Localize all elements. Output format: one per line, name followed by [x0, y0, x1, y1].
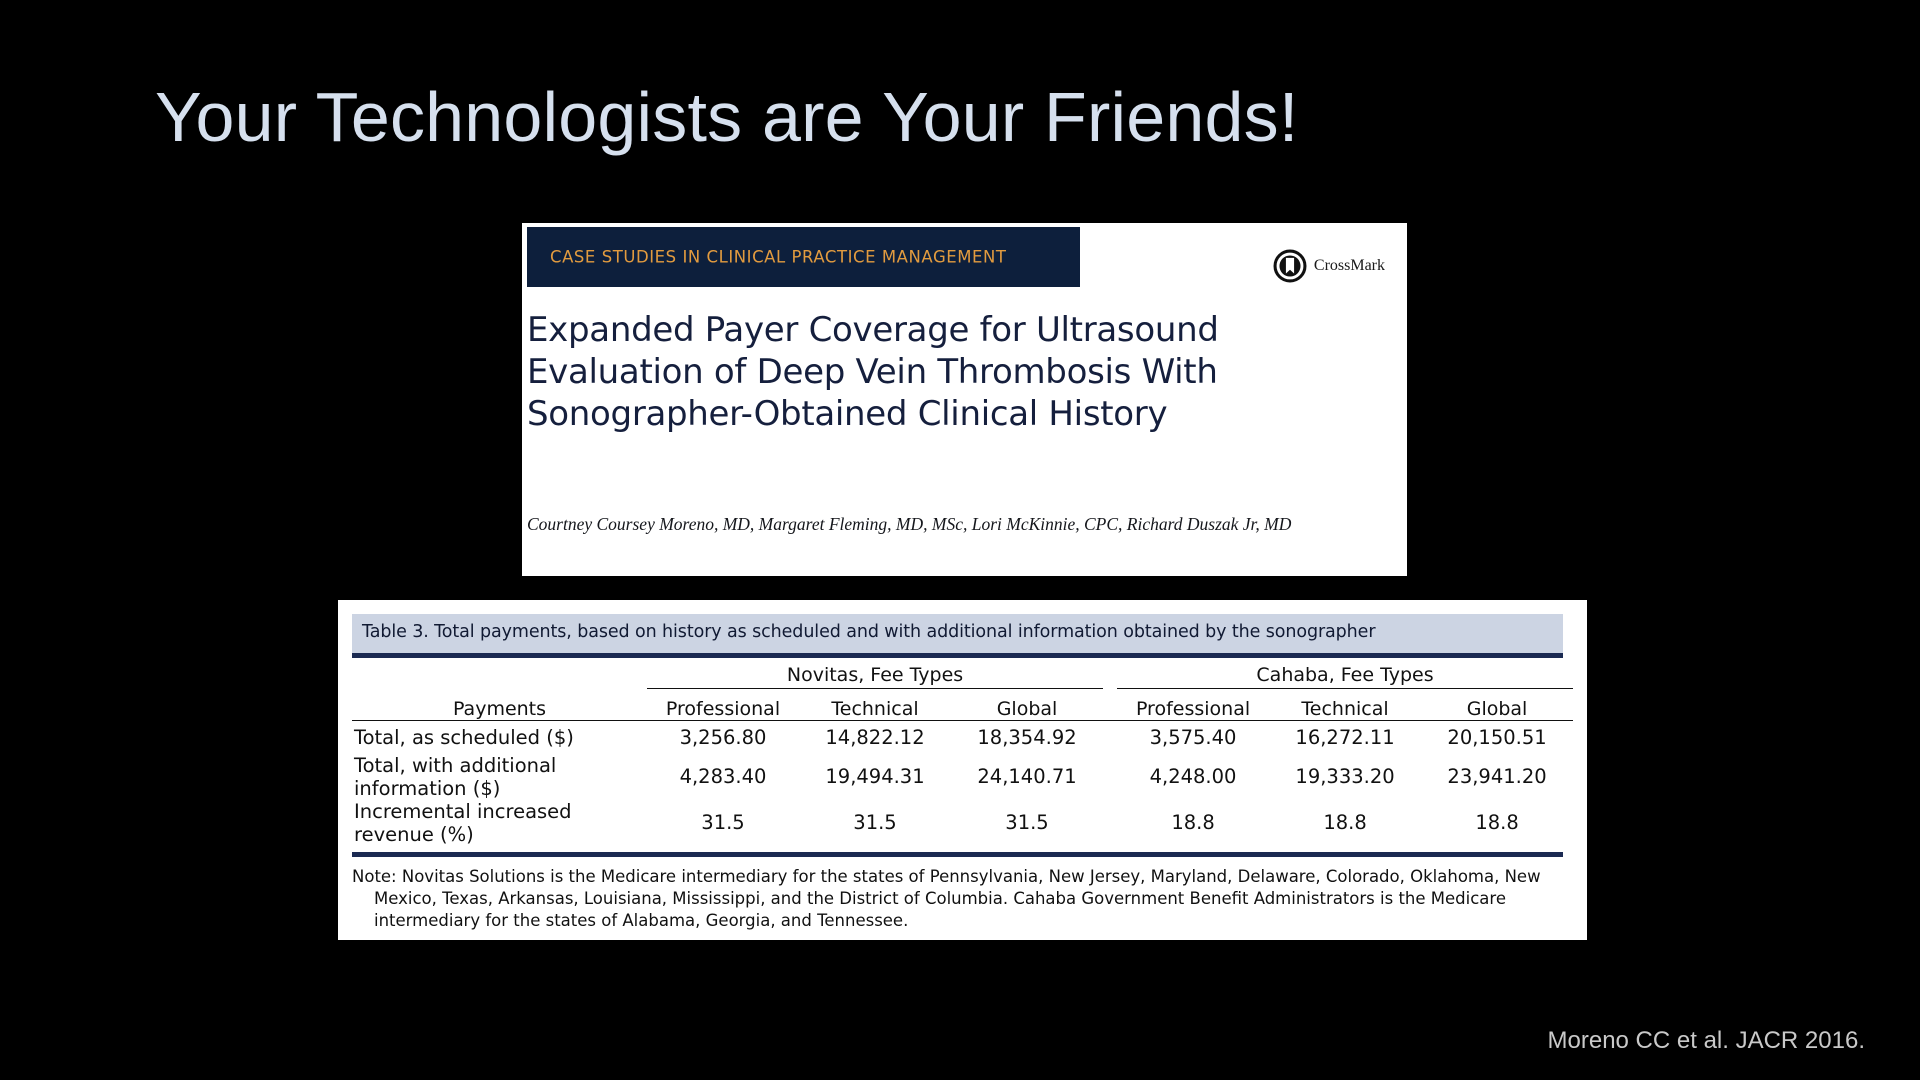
- table-group-header-row: Novitas, Fee Types Cahaba, Fee Types: [352, 658, 1573, 688]
- cell-novitas-professional: 4,283.40: [647, 754, 799, 800]
- table-note-text: Note: Novitas Solutions is the Medicare …: [352, 867, 1541, 930]
- row-label-total-with-additional-information: Total, with additional information ($): [352, 754, 647, 800]
- group-header-spacer: [352, 658, 647, 688]
- journal-section-banner: CASE STUDIES IN CLINICAL PRACTICE MANAGE…: [527, 227, 1080, 287]
- column-header-cahaba-global: Global: [1421, 688, 1573, 720]
- journal-section-label: CASE STUDIES IN CLINICAL PRACTICE MANAGE…: [550, 248, 1007, 267]
- cell-cahaba-professional: 18.8: [1117, 800, 1269, 846]
- group-header-novitas: Novitas, Fee Types: [647, 658, 1103, 688]
- table-row: Total, as scheduled ($) 3,256.80 14,822.…: [352, 721, 1573, 754]
- article-header-image: CASE STUDIES IN CLINICAL PRACTICE MANAGE…: [522, 223, 1407, 576]
- table-row: Incremental increased revenue (%) 31.5 3…: [352, 800, 1573, 846]
- cell-cahaba-technical: 16,272.11: [1269, 721, 1421, 754]
- table-container: Table 3. Total payments, based on histor…: [352, 614, 1563, 932]
- cell-cahaba-global: 20,150.51: [1421, 721, 1573, 754]
- cell-gap: [1103, 721, 1117, 754]
- cell-novitas-global: 31.5: [951, 800, 1103, 846]
- cell-novitas-technical: 14,822.12: [799, 721, 951, 754]
- column-header-gap: [1103, 688, 1117, 720]
- cell-gap: [1103, 800, 1117, 846]
- table-caption: Table 3. Total payments, based on histor…: [362, 622, 1375, 642]
- crossmark-badge: CrossMark: [1273, 249, 1385, 283]
- cell-novitas-technical: 19,494.31: [799, 754, 951, 800]
- table-column-header-row: Payments Professional Technical Global P…: [352, 688, 1573, 720]
- table-row: Total, with additional information ($) 4…: [352, 754, 1573, 800]
- group-header-cahaba: Cahaba, Fee Types: [1117, 658, 1573, 688]
- cell-novitas-global: 24,140.71: [951, 754, 1103, 800]
- cell-cahaba-technical: 18.8: [1269, 800, 1421, 846]
- cell-novitas-professional: 3,256.80: [647, 721, 799, 754]
- crossmark-label: CrossMark: [1314, 257, 1385, 275]
- table-note: Note: Novitas Solutions is the Medicare …: [352, 866, 1563, 932]
- cell-novitas-professional: 31.5: [647, 800, 799, 846]
- row-label-incremental-increased-revenue: Incremental increased revenue (%): [352, 800, 647, 846]
- payments-table: Novitas, Fee Types Cahaba, Fee Types Pay…: [352, 658, 1573, 846]
- slide-citation: Moreno CC et al. JACR 2016.: [1548, 1027, 1865, 1055]
- column-header-payments: Payments: [352, 688, 647, 720]
- column-header-novitas-professional: Professional: [647, 688, 799, 720]
- cell-cahaba-technical: 19,333.20: [1269, 754, 1421, 800]
- page-title: Your Technologists are Your Friends!: [155, 82, 1299, 152]
- group-header-gap: [1103, 658, 1117, 688]
- table-bottom-rule: [352, 852, 1563, 857]
- article-title: Expanded Payer Coverage for Ultrasound E…: [527, 310, 1287, 435]
- cell-cahaba-global: 23,941.20: [1421, 754, 1573, 800]
- cell-cahaba-professional: 3,575.40: [1117, 721, 1269, 754]
- column-header-cahaba-technical: Technical: [1269, 688, 1421, 720]
- cell-novitas-global: 18,354.92: [951, 721, 1103, 754]
- cell-cahaba-professional: 4,248.00: [1117, 754, 1269, 800]
- cell-novitas-technical: 31.5: [799, 800, 951, 846]
- cell-cahaba-global: 18.8: [1421, 800, 1573, 846]
- article-authors: Courtney Coursey Moreno, MD, Margaret Fl…: [527, 512, 1327, 537]
- table-image: Table 3. Total payments, based on histor…: [338, 600, 1587, 940]
- row-label-total-as-scheduled: Total, as scheduled ($): [352, 721, 647, 754]
- column-header-novitas-global: Global: [951, 688, 1103, 720]
- table-caption-bar: Table 3. Total payments, based on histor…: [352, 614, 1563, 658]
- column-header-cahaba-professional: Professional: [1117, 688, 1269, 720]
- cell-gap: [1103, 754, 1117, 800]
- crossmark-bookmark-icon: [1273, 249, 1307, 283]
- column-header-novitas-technical: Technical: [799, 688, 951, 720]
